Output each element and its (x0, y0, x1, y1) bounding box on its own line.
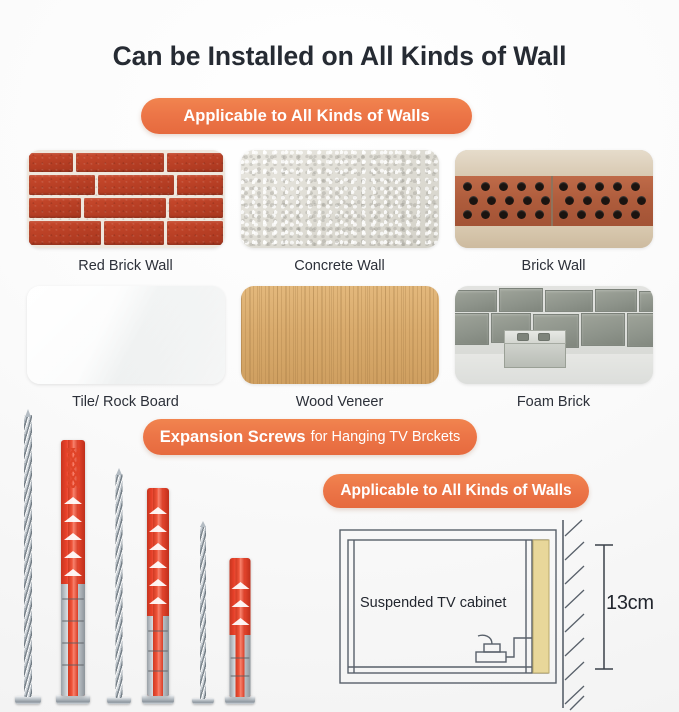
wood-veneer-texture (241, 286, 439, 384)
wall-strip (533, 540, 549, 673)
wall-type-red-brick[interactable]: Red Brick Wall (27, 150, 225, 274)
wall-type-foam-brick[interactable]: Foam Brick (455, 286, 653, 410)
wall-types-row-2: Tile/ Rock Board Wood Veneer (0, 286, 679, 410)
fastener-illustrations (0, 408, 310, 712)
tv-cabinet-diagram: Suspended TV cabinet 13cm (318, 512, 679, 712)
fastener-long-screw-1 (14, 414, 42, 704)
cabinet-label: Suspended TV cabinet (360, 595, 506, 611)
red-brick-texture (27, 150, 225, 248)
fastener-medium-anchor-2 (141, 488, 175, 704)
fastener-short-screw-3 (191, 524, 215, 704)
tile-rock-board-texture (27, 286, 225, 384)
wall-type-label: Concrete Wall (241, 258, 439, 274)
wall-types-grid: Red Brick Wall Concrete Wall (0, 150, 679, 422)
badge-top-label: Applicable to All Kinds of Walls (183, 107, 429, 126)
badge-screws-light-label: for Hanging TV Brckets (311, 429, 461, 445)
wall-type-label: Brick Wall (455, 258, 653, 274)
fastener-medium-screw-2 (106, 472, 132, 704)
fastener-long-anchor-1 (55, 440, 91, 704)
equipment-cable (478, 635, 492, 644)
wall-type-brick[interactable]: Brick Wall (455, 150, 653, 274)
badge-diagram-label: Applicable to All Kinds of Walls (340, 482, 571, 500)
page-title: Can be Installed on All Kinds of Wall (0, 41, 679, 72)
foam-brick-texture (455, 286, 653, 384)
wall-type-wood-veneer[interactable]: Wood Veneer (241, 286, 439, 410)
wall-type-tile-rock-board[interactable]: Tile/ Rock Board (27, 286, 225, 410)
equipment-box (476, 652, 506, 662)
equipment-box-top (484, 644, 500, 652)
wall-type-concrete[interactable]: Concrete Wall (241, 150, 439, 274)
badge-applicable-walls-diagram: Applicable to All Kinds of Walls (323, 474, 589, 508)
fastener-short-anchor-3 (224, 558, 256, 704)
wall-types-row-1: Red Brick Wall Concrete Wall (0, 150, 679, 274)
perforated-brick-texture (455, 150, 653, 248)
badge-applicable-walls-top: Applicable to All Kinds of Walls (141, 98, 472, 134)
concrete-texture (241, 150, 439, 248)
dimension-label: 13cm (606, 592, 654, 615)
wall-type-label: Foam Brick (455, 394, 653, 410)
wall-type-label: Red Brick Wall (27, 258, 225, 274)
